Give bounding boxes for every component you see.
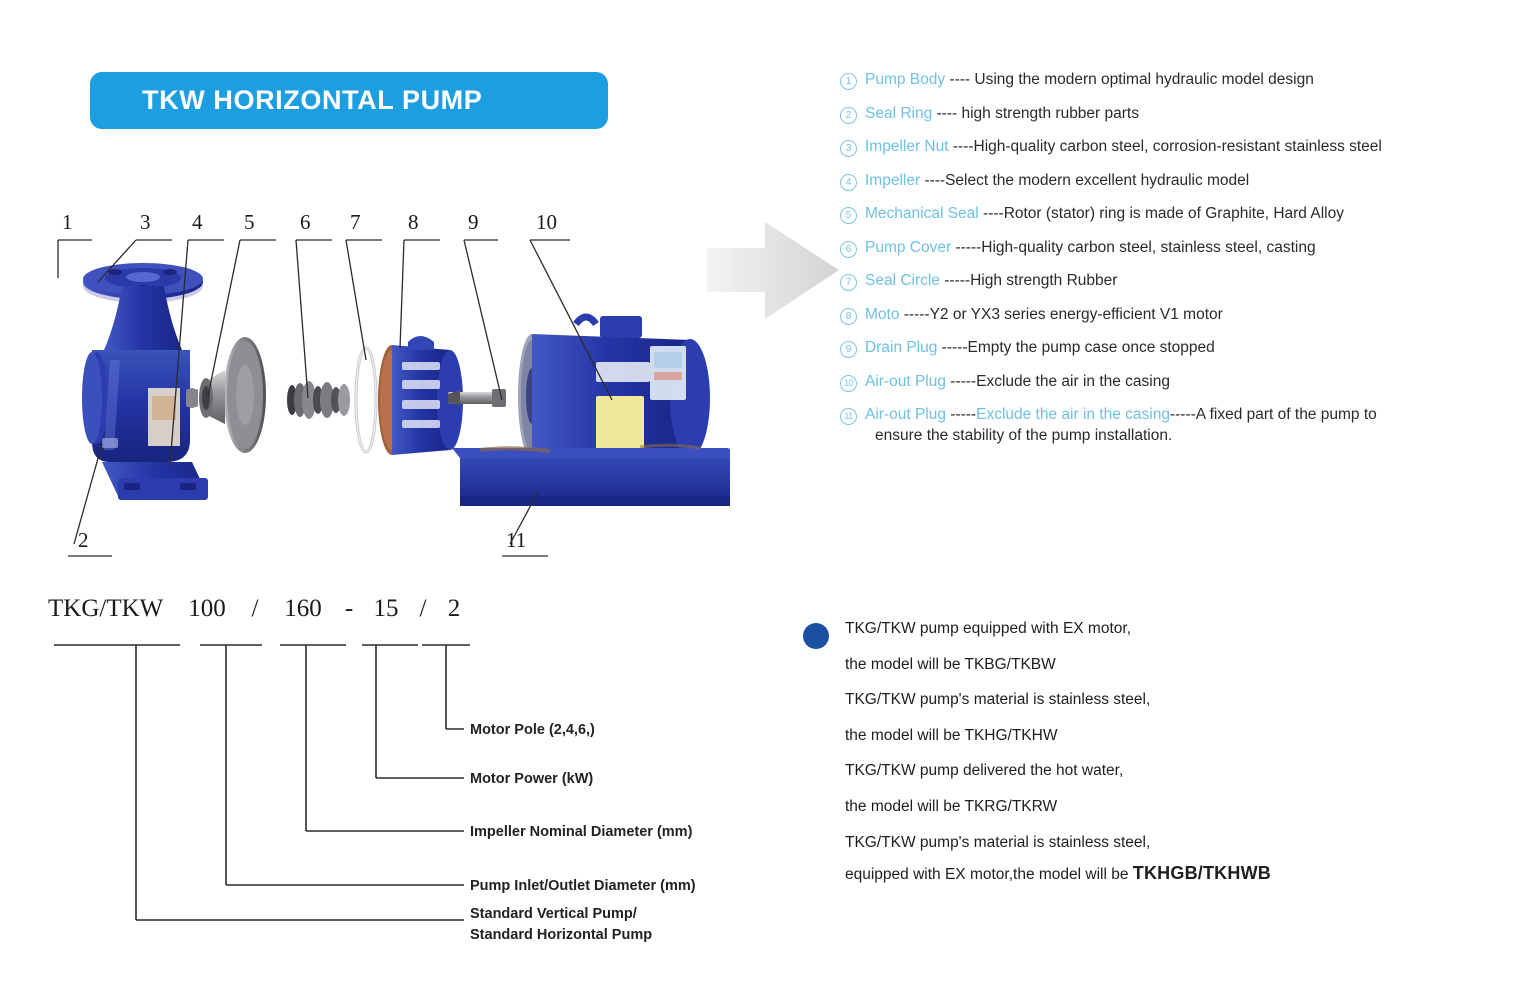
legend-dash-7: ----- xyxy=(940,272,970,289)
legend-item-1: 1 Pump Body ---- Using the modern optima… xyxy=(840,70,1500,90)
legend-dash-1: ---- xyxy=(945,71,974,88)
legend-continuation-11: ensure the stability of the pump install… xyxy=(865,426,1377,445)
note-line-2: the model will be TKBG/TKBW xyxy=(845,656,1405,675)
legend-part-8: Moto xyxy=(865,306,899,323)
legend-part-4: Impeller xyxy=(865,172,920,189)
model-label-impeller-diameter: Impeller Nominal Diameter (mm) xyxy=(470,823,692,843)
legend-number-1: 1 xyxy=(840,73,857,90)
legend-text-8: Moto -----Y2 or YX3 series energy-effici… xyxy=(865,305,1223,324)
legend-text-6: Pump Cover -----High-quality carbon stee… xyxy=(865,238,1316,257)
legend-item-4: 4 Impeller ----Select the modern excelle… xyxy=(840,171,1500,191)
note-line-1: TKG/TKW pump equipped with EX motor, xyxy=(845,620,1405,639)
legend-text-5: Mechanical Seal ----Rotor (stator) ring … xyxy=(865,204,1344,223)
legend-part-10: Air-out Plug xyxy=(865,373,946,390)
note-line-8: equipped with EX motor,the model will be… xyxy=(845,863,1405,885)
legend-dash-3: ---- xyxy=(949,138,974,155)
legend-desc-1: Using the modern optimal hydraulic model… xyxy=(974,71,1313,88)
legend-part-7: Seal Circle xyxy=(865,272,940,289)
legend-part-3: Impeller Nut xyxy=(865,138,949,155)
bullet-icon xyxy=(803,623,829,649)
model-label-motor-pole: Motor Pole (2,4,6,) xyxy=(470,721,595,741)
legend-item-7: 7 Seal Circle -----High strength Rubber xyxy=(840,271,1500,291)
legend-dash-4: ---- xyxy=(920,172,945,189)
legend-desc-3: High-quality carbon steel, corrosion-res… xyxy=(974,138,1382,155)
legend-desc-8: Y2 or YX3 series energy-efficient V1 mot… xyxy=(930,306,1223,323)
legend-desc-6: High-quality carbon steel, stainless ste… xyxy=(981,239,1315,256)
parts-legend: 1 Pump Body ---- Using the modern optima… xyxy=(840,70,1500,446)
legend-blue-desc-11: Exclude the air in the casing xyxy=(976,406,1170,423)
legend-part-9: Drain Plug xyxy=(865,339,937,356)
legend-dash-6: ----- xyxy=(951,239,981,256)
legend-text-9: Drain Plug -----Empty the pump case once… xyxy=(865,338,1215,357)
legend-item-3: 3 Impeller Nut ----High-quality carbon s… xyxy=(840,137,1500,157)
legend-text-3: Impeller Nut ----High-quality carbon ste… xyxy=(865,137,1382,156)
legend-number-4: 4 xyxy=(840,174,857,191)
legend-number-6: 6 xyxy=(840,241,857,258)
legend-text-2: Seal Ring ---- high strength rubber part… xyxy=(865,104,1139,123)
legend-part-5: Mechanical Seal xyxy=(865,205,979,222)
legend-text-10: Air-out Plug -----Exclude the air in the… xyxy=(865,372,1170,391)
model-designation-diagram: TKG/TKW100/160-15/2 xyxy=(40,595,740,965)
note-line-4: the model will be TKHG/TKHW xyxy=(845,727,1405,746)
legend-dash-10: ----- xyxy=(946,373,976,390)
legend-desc-7: High strength Rubber xyxy=(970,272,1117,289)
legend-text-1: Pump Body ---- Using the modern optimal … xyxy=(865,70,1314,89)
legend-item-6: 6 Pump Cover -----High-quality carbon st… xyxy=(840,238,1500,258)
note-line-6: the model will be TKRG/TKRW xyxy=(845,798,1405,817)
legend-item-2: 2 Seal Ring ---- high strength rubber pa… xyxy=(840,104,1500,124)
callout-leader-lines xyxy=(40,200,730,570)
legend-item-9: 9 Drain Plug -----Empty the pump case on… xyxy=(840,338,1500,358)
note-line-8-prefix: equipped with EX motor,the model will be xyxy=(845,866,1133,883)
note-line-3: TKG/TKW pump's material is stainless ste… xyxy=(845,691,1405,710)
note-line-7: TKG/TKW pump's material is stainless ste… xyxy=(845,834,1405,853)
page-root: TKW HORIZONTAL PUMP xyxy=(0,0,1513,1000)
legend-desc-11: A fixed part of the pump to xyxy=(1196,406,1377,423)
legend-dash2-11: ----- xyxy=(1170,406,1196,423)
legend-desc-10: Exclude the air in the casing xyxy=(976,373,1170,390)
legend-desc-9: Empty the pump case once stopped xyxy=(968,339,1215,356)
legend-text-11: Air-out Plug -----Exclude the air in the… xyxy=(865,405,1377,446)
legend-part-6: Pump Cover xyxy=(865,239,951,256)
legend-number-2: 2 xyxy=(840,107,857,124)
legend-number-10: 10 xyxy=(840,375,857,392)
legend-dash-11: ----- xyxy=(946,406,976,423)
legend-text-7: Seal Circle -----High strength Rubber xyxy=(865,271,1117,290)
legend-item-11: 11 Air-out Plug -----Exclude the air in … xyxy=(840,405,1500,446)
legend-number-3: 3 xyxy=(840,140,857,157)
model-label-motor-power: Motor Power (kW) xyxy=(470,770,593,790)
legend-dash-9: ----- xyxy=(937,339,967,356)
legend-desc-5: Rotor (stator) ring is made of Graphite,… xyxy=(1004,205,1344,222)
grey-right-arrow-icon xyxy=(703,218,843,323)
model-variant-notes: TKG/TKW pump equipped with EX motor, the… xyxy=(845,620,1405,902)
legend-dash-8: ----- xyxy=(899,306,929,323)
legend-number-8: 8 xyxy=(840,308,857,325)
legend-number-7: 7 xyxy=(840,274,857,291)
model-label-standard-pump-line1: Standard Vertical Pump/ xyxy=(470,905,637,925)
model-label-inlet-outlet-diameter: Pump Inlet/Outlet Diameter (mm) xyxy=(470,877,696,897)
legend-desc-4: Select the modern excellent hydraulic mo… xyxy=(945,172,1249,189)
pump-figure: 1 3 4 5 6 7 8 9 10 2 11 xyxy=(40,200,730,570)
legend-part-1: Pump Body xyxy=(865,71,945,88)
legend-part-2: Seal Ring xyxy=(865,105,932,122)
legend-item-8: 8 Moto -----Y2 or YX3 series energy-effi… xyxy=(840,305,1500,325)
legend-dash-2: ---- xyxy=(932,105,961,122)
note-line-8-model: TKHGB/TKHWB xyxy=(1133,863,1271,883)
legend-number-5: 5 xyxy=(840,207,857,224)
legend-text-4: Impeller ----Select the modern excellent… xyxy=(865,171,1249,190)
note-line-5: TKG/TKW pump delivered the hot water, xyxy=(845,762,1405,781)
title-banner: TKW HORIZONTAL PUMP xyxy=(90,72,608,129)
legend-item-10: 10 Air-out Plug -----Exclude the air in … xyxy=(840,372,1500,392)
legend-desc-2: high strength rubber parts xyxy=(961,105,1139,122)
page-title: TKW HORIZONTAL PUMP xyxy=(90,85,482,116)
legend-number-9: 9 xyxy=(840,341,857,358)
legend-dash-5: ---- xyxy=(979,205,1004,222)
legend-number-11: 11 xyxy=(840,408,857,425)
legend-part-11: Air-out Plug xyxy=(865,406,946,423)
model-label-standard-pump-line2: Standard Horizontal Pump xyxy=(470,926,652,946)
legend-item-5: 5 Mechanical Seal ----Rotor (stator) rin… xyxy=(840,204,1500,224)
